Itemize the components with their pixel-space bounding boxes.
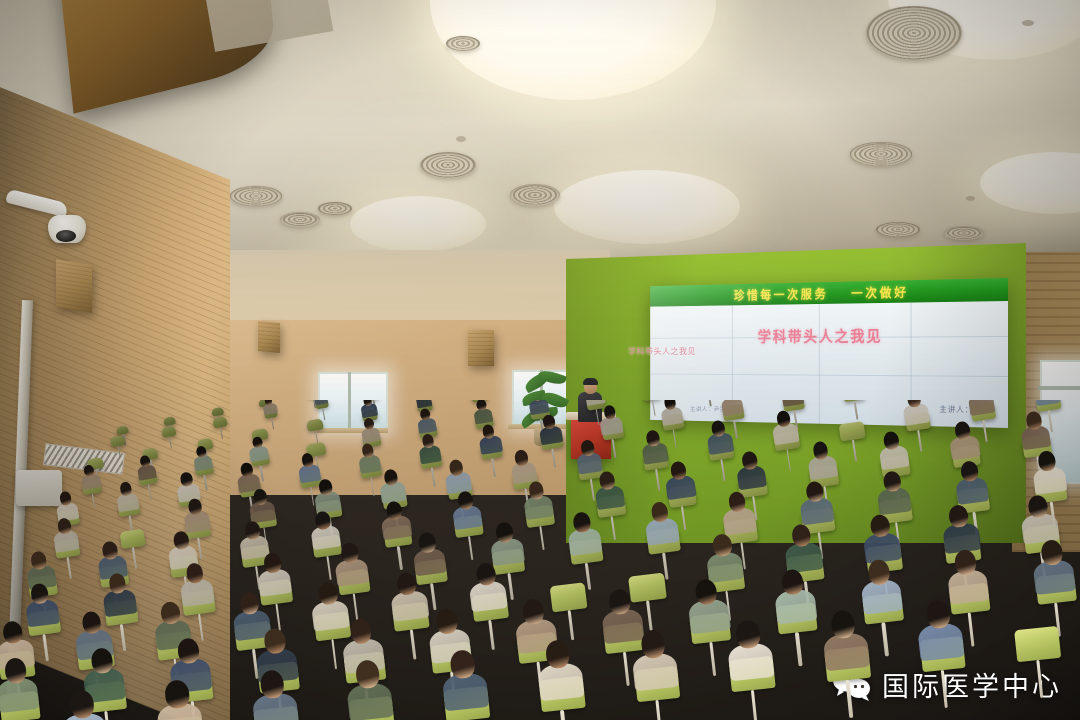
attendee-head: [355, 659, 381, 689]
slide-title: 学科带头人之我见: [758, 323, 883, 346]
wall-speaker: [56, 259, 92, 313]
ceiling-air-diffuser: [510, 184, 560, 206]
ceiling-air-diffuser: [420, 152, 476, 178]
seat-frame: [655, 700, 662, 720]
ceiling-air-diffuser: [318, 202, 352, 215]
ceiling-sprinkler: [1022, 20, 1034, 26]
ceiling-sprinkler: [966, 196, 975, 201]
attendee-head: [69, 689, 95, 719]
ceiling-air-diffuser: [866, 6, 962, 60]
seat-frame: [751, 690, 758, 720]
ceiling-air-diffuser: [876, 222, 920, 237]
attendee-head: [710, 420, 725, 437]
attendee-head: [240, 462, 253, 477]
wall-speaker: [258, 321, 280, 353]
secondary-slide-title: 学科带头人之我见: [628, 346, 696, 357]
ceiling-air-diffuser: [850, 142, 912, 166]
round-ceiling-light: [554, 170, 740, 244]
ceiling-sprinkler: [456, 136, 466, 142]
attendee-head: [164, 679, 190, 709]
attendee-head: [450, 649, 476, 679]
presenter-cap: [583, 378, 598, 385]
attendee-head: [542, 414, 555, 429]
ceiling-air-diffuser: [446, 36, 480, 51]
ceiling-air-diffuser: [944, 226, 984, 240]
attendee-head: [301, 453, 314, 468]
window-mullion: [1038, 386, 1080, 390]
auditorium-seat[interactable]: [1014, 626, 1061, 662]
attendee-head: [187, 498, 202, 515]
seat-frame: [560, 710, 567, 720]
auditorium-photo: 珍惜每一次服务 一次做好 学科带头人之我见 主讲人：尹强 学科带头人之我见 主讲…: [0, 0, 1080, 720]
ceiling-air-diffuser: [230, 186, 282, 206]
ceiling-air-diffuser: [280, 212, 320, 227]
attendee-head: [925, 599, 951, 629]
banner-text-right: 一次做好: [851, 282, 909, 301]
audience-seating-area: [0, 400, 1080, 720]
attendee-head: [180, 472, 193, 487]
seat-frame: [846, 680, 853, 718]
upper-back-wall: [190, 250, 610, 320]
attendee-head: [640, 629, 666, 659]
banner-text-left: 珍惜每一次服务: [734, 284, 829, 304]
attendee-head: [735, 619, 761, 649]
wall-speaker: [468, 330, 494, 366]
round-ceiling-light: [350, 196, 486, 252]
camera-lens-icon: [56, 230, 76, 242]
